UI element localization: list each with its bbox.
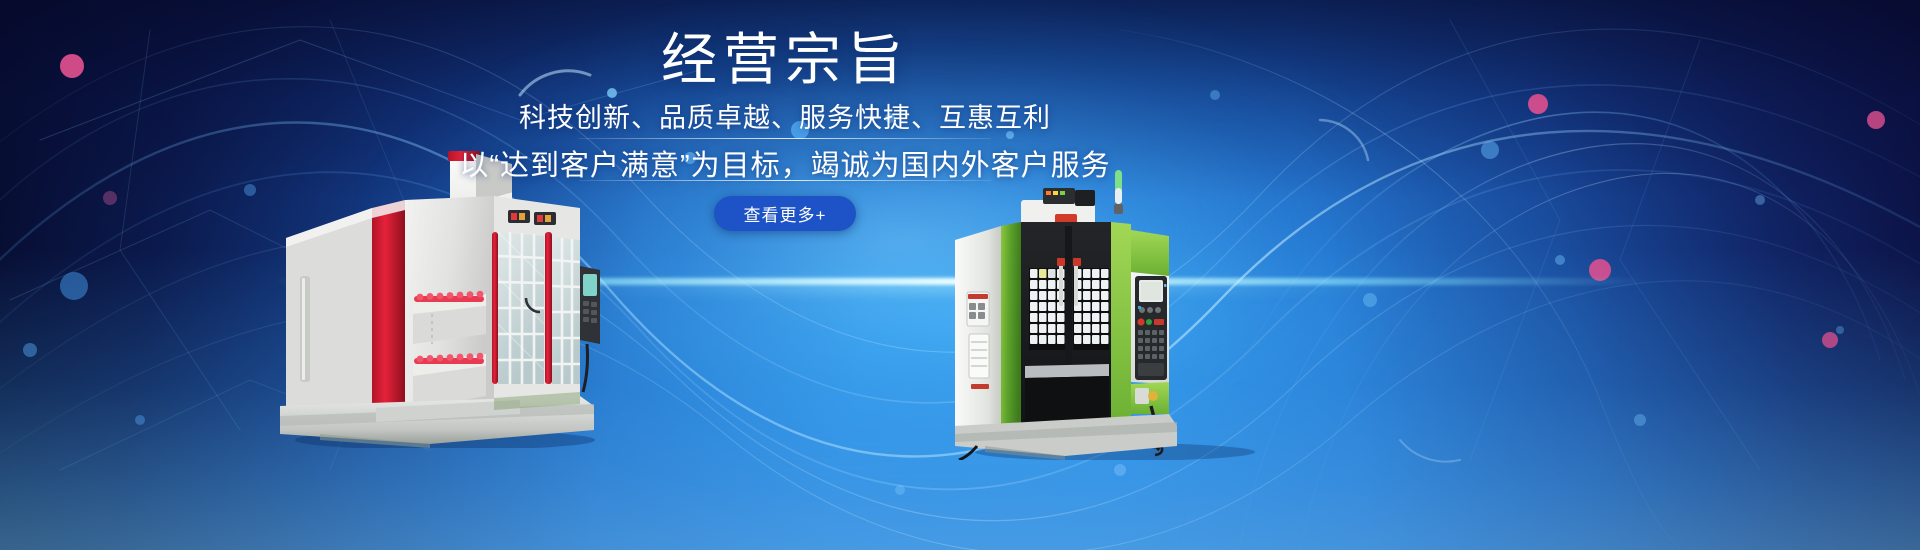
cta-container: 查看更多+	[0, 196, 1745, 231]
view-more-button[interactable]: 查看更多+	[714, 196, 856, 231]
cnc-machine-white-red-icon	[280, 148, 600, 448]
promo-banner: 经营宗旨 科技创新、品质卓越、服务快捷、互惠互利 以“达到客户满意”为目标，竭诚…	[0, 0, 1920, 550]
